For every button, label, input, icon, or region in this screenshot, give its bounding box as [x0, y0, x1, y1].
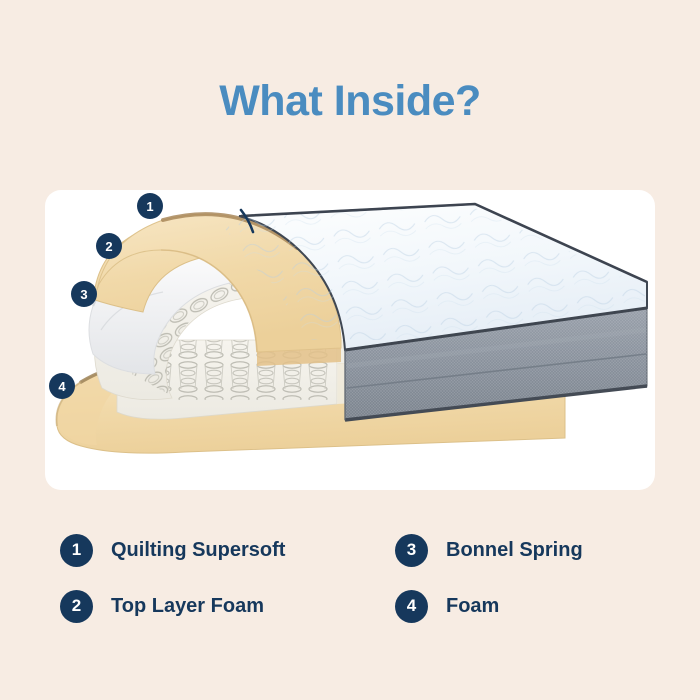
legend-label-4: Foam [446, 595, 499, 618]
legend: 1 Quilting Supersoft 3 Bonnel Spring 2 T… [60, 522, 660, 634]
callout-4-number: 4 [58, 379, 66, 394]
legend-badge-4: 4 [395, 590, 428, 623]
mattress-cutaway-illustration: 1 2 3 4 [45, 190, 655, 490]
callout-2-number: 2 [105, 239, 112, 254]
page-title: What Inside? [0, 78, 700, 125]
legend-badge-1: 1 [60, 534, 93, 567]
legend-label-1: Quilting Supersoft [111, 539, 285, 562]
legend-item-3[interactable]: 3 Bonnel Spring [395, 534, 660, 567]
legend-badge-2: 2 [60, 590, 93, 623]
callout-3[interactable]: 3 [71, 281, 97, 307]
legend-item-1[interactable]: 1 Quilting Supersoft [60, 534, 395, 567]
callout-3-number: 3 [80, 287, 87, 302]
legend-item-4[interactable]: 4 Foam [395, 590, 660, 623]
legend-label-2: Top Layer Foam [111, 595, 264, 618]
legend-item-2[interactable]: 2 Top Layer Foam [60, 590, 395, 623]
illustration-card: 1 2 3 4 [45, 190, 655, 490]
callout-2[interactable]: 2 [96, 233, 122, 259]
callout-1-number: 1 [146, 199, 153, 214]
callout-4[interactable]: 4 [49, 373, 75, 399]
legend-badge-3: 3 [395, 534, 428, 567]
legend-label-3: Bonnel Spring [446, 539, 583, 562]
